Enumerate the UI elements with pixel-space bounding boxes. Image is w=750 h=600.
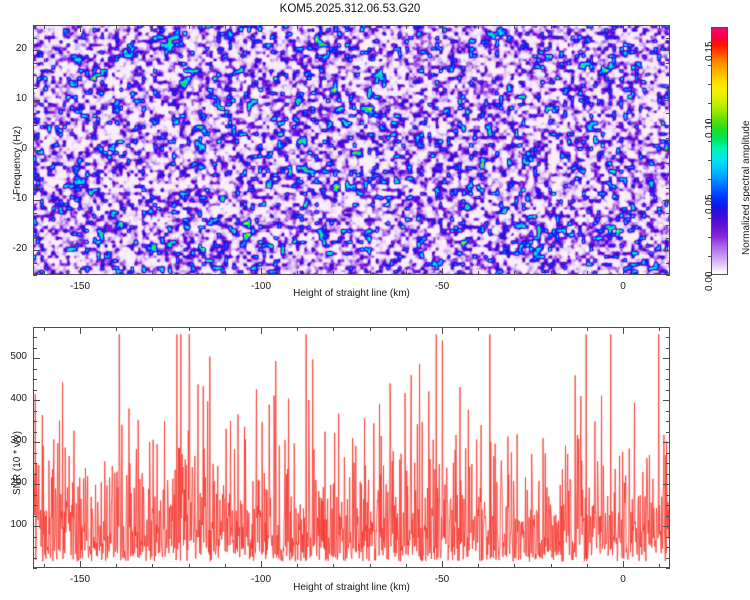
axis-tick — [33, 390, 37, 391]
axis-tick — [44, 271, 45, 275]
spectrogram-image — [34, 26, 670, 275]
axis-tick — [659, 564, 660, 568]
axis-tick — [478, 564, 479, 568]
axis-tick — [442, 25, 443, 32]
axis-tick — [406, 564, 407, 568]
axis-tick — [297, 327, 298, 331]
axis-tick — [33, 484, 40, 485]
axis-tick — [666, 495, 670, 496]
colorbar-minor-tick — [708, 256, 711, 257]
y-tick-label: 500 — [0, 351, 27, 362]
axis-tick — [659, 25, 660, 29]
axis-tick — [663, 526, 670, 527]
axis-tick — [333, 564, 334, 568]
axis-tick — [663, 250, 670, 251]
axis-tick — [666, 505, 670, 506]
axis-tick — [663, 150, 670, 151]
axis-tick — [666, 369, 670, 370]
axis-tick — [663, 100, 670, 101]
axis-tick — [152, 327, 153, 331]
axis-tick — [33, 379, 37, 380]
snr-x-axis-label: Height of straight line (km) — [0, 582, 703, 593]
axis-tick — [587, 564, 588, 568]
axis-tick — [33, 463, 37, 464]
axis-tick — [666, 348, 670, 349]
axis-tick — [189, 271, 190, 275]
colorbar-tick-label: 0.00 — [704, 272, 715, 291]
axis-tick — [442, 561, 443, 568]
axis-tick — [33, 275, 37, 276]
axis-tick — [666, 213, 670, 214]
axis-tick — [551, 327, 552, 331]
axis-tick — [80, 561, 81, 568]
axis-tick — [666, 432, 670, 433]
colorbar-minor-tick — [708, 160, 711, 161]
axis-tick — [297, 564, 298, 568]
axis-tick — [666, 327, 670, 328]
axis-tick — [225, 327, 226, 331]
axis-tick — [33, 547, 37, 548]
axis-tick — [370, 327, 371, 331]
axis-tick — [666, 453, 670, 454]
axis-tick — [33, 516, 37, 517]
axis-tick — [189, 564, 190, 568]
spectrogram-y-axis-label: Frequency (Hz) — [12, 126, 23, 195]
y-tick-label: 100 — [0, 519, 27, 530]
colorbar-tick-label: 0.15 — [704, 42, 715, 61]
colorbar-minor-tick — [708, 84, 711, 85]
axis-tick — [33, 526, 40, 527]
axis-tick — [478, 25, 479, 29]
axis-tick — [551, 25, 552, 29]
axis-tick — [116, 327, 117, 331]
axis-tick — [551, 271, 552, 275]
colorbar-minor-tick — [708, 237, 711, 238]
snr-panel — [33, 327, 670, 568]
axis-tick — [666, 537, 670, 538]
axis-tick — [478, 327, 479, 331]
axis-tick — [33, 400, 40, 401]
axis-tick — [666, 379, 670, 380]
colorbar-minor-tick — [708, 141, 711, 142]
spectrogram-x-axis-label: Height of straight line (km) — [0, 288, 703, 299]
axis-tick — [666, 188, 670, 189]
axis-tick — [666, 275, 670, 276]
axis-tick — [666, 474, 670, 475]
axis-tick — [116, 564, 117, 568]
axis-tick — [666, 125, 670, 126]
axis-tick — [225, 564, 226, 568]
axis-tick — [261, 561, 262, 568]
axis-tick — [33, 558, 37, 559]
axis-tick — [333, 25, 334, 29]
axis-tick — [666, 163, 670, 164]
axis-tick — [33, 238, 37, 239]
axis-tick — [666, 390, 670, 391]
axis-tick — [666, 463, 670, 464]
axis-tick — [666, 547, 670, 548]
axis-tick — [44, 25, 45, 29]
axis-tick — [261, 327, 262, 334]
axis-tick — [666, 38, 670, 39]
snr-y-axis-label: SNR (10 * v/v) — [12, 431, 23, 495]
axis-tick — [406, 271, 407, 275]
axis-tick — [33, 358, 40, 359]
axis-tick — [33, 568, 37, 569]
axis-tick — [261, 25, 262, 32]
axis-tick — [666, 263, 670, 264]
axis-tick — [33, 100, 40, 101]
colorbar-minor-tick — [708, 218, 711, 219]
axis-tick — [406, 327, 407, 331]
axis-tick — [33, 432, 37, 433]
colorbar-minor-tick — [708, 179, 711, 180]
axis-tick — [33, 442, 40, 443]
axis-tick — [663, 400, 670, 401]
y-tick-label: -20 — [0, 243, 27, 254]
axis-tick — [33, 453, 37, 454]
axis-tick — [44, 564, 45, 568]
axis-tick — [370, 25, 371, 29]
figure-title: KOM5.2025.312.06.53.G20 — [0, 3, 700, 15]
figure-root: KOM5.2025.312.06.53.G20 -150-100-500-20-… — [0, 0, 750, 600]
axis-tick — [514, 327, 515, 331]
axis-tick — [33, 505, 37, 506]
axis-tick — [152, 564, 153, 568]
snr-trace — [34, 328, 670, 568]
axis-tick — [297, 25, 298, 29]
axis-tick — [666, 516, 670, 517]
axis-tick — [587, 327, 588, 331]
axis-tick — [225, 25, 226, 29]
axis-tick — [80, 268, 81, 275]
axis-tick — [666, 75, 670, 76]
axis-tick — [33, 225, 37, 226]
y-tick-label: 400 — [0, 393, 27, 404]
axis-tick — [33, 474, 37, 475]
axis-tick — [663, 200, 670, 201]
colorbar-tick-label: 0.05 — [704, 195, 715, 214]
colorbar-label: Normalized spectral amplitude — [741, 120, 750, 255]
colorbar-minor-tick — [708, 103, 711, 104]
colorbar-tick-label: 0.10 — [704, 119, 715, 138]
axis-tick — [33, 250, 40, 251]
axis-tick — [33, 337, 37, 338]
axis-tick — [33, 188, 37, 189]
axis-tick — [659, 271, 660, 275]
axis-tick — [33, 63, 37, 64]
axis-tick — [666, 113, 670, 114]
axis-tick — [33, 88, 37, 89]
axis-tick — [442, 327, 443, 334]
axis-tick — [297, 271, 298, 275]
axis-tick — [189, 327, 190, 331]
axis-tick — [333, 271, 334, 275]
axis-tick — [666, 568, 670, 569]
axis-tick — [623, 561, 624, 568]
axis-tick — [666, 25, 670, 26]
axis-tick — [666, 421, 670, 422]
axis-tick — [116, 271, 117, 275]
axis-tick — [33, 213, 37, 214]
axis-tick — [152, 271, 153, 275]
axis-tick — [33, 38, 37, 39]
axis-tick — [80, 327, 81, 334]
axis-tick — [33, 327, 37, 328]
axis-tick — [33, 175, 37, 176]
axis-tick — [666, 337, 670, 338]
axis-tick — [666, 411, 670, 412]
y-tick-label: 10 — [0, 93, 27, 104]
axis-tick — [623, 327, 624, 334]
axis-tick — [666, 175, 670, 176]
axis-tick — [33, 125, 37, 126]
colorbar-minor-tick — [708, 65, 711, 66]
axis-tick — [663, 50, 670, 51]
axis-tick — [666, 88, 670, 89]
axis-tick — [33, 369, 37, 370]
axis-tick — [666, 238, 670, 239]
axis-tick — [587, 271, 588, 275]
axis-tick — [587, 25, 588, 29]
axis-tick — [152, 25, 153, 29]
axis-tick — [33, 411, 37, 412]
axis-tick — [666, 558, 670, 559]
axis-tick — [478, 271, 479, 275]
axis-tick — [33, 163, 37, 164]
axis-tick — [659, 327, 660, 331]
colorbar — [711, 27, 728, 275]
axis-tick — [370, 564, 371, 568]
axis-tick — [116, 25, 117, 29]
axis-tick — [225, 271, 226, 275]
axis-tick — [514, 271, 515, 275]
axis-tick — [33, 150, 40, 151]
axis-tick — [80, 25, 81, 32]
axis-tick — [33, 537, 37, 538]
axis-tick — [514, 25, 515, 29]
y-tick-label: 20 — [0, 43, 27, 54]
axis-tick — [514, 564, 515, 568]
axis-tick — [370, 271, 371, 275]
axis-tick — [44, 327, 45, 331]
axis-tick — [551, 564, 552, 568]
axis-tick — [33, 75, 37, 76]
axis-tick — [33, 113, 37, 114]
axis-tick — [666, 225, 670, 226]
axis-tick — [33, 25, 37, 26]
axis-tick — [623, 25, 624, 32]
axis-tick — [33, 50, 40, 51]
axis-tick — [189, 25, 190, 29]
axis-tick — [33, 263, 37, 264]
axis-tick — [663, 358, 670, 359]
axis-tick — [33, 495, 37, 496]
axis-tick — [33, 200, 40, 201]
axis-tick — [666, 138, 670, 139]
axis-tick — [333, 327, 334, 331]
axis-tick — [33, 421, 37, 422]
axis-tick — [666, 63, 670, 64]
axis-tick — [663, 484, 670, 485]
axis-tick — [663, 442, 670, 443]
axis-tick — [623, 268, 624, 275]
axis-tick — [406, 25, 407, 29]
axis-tick — [33, 348, 37, 349]
axis-tick — [442, 268, 443, 275]
spectrogram-panel — [33, 25, 670, 275]
axis-tick — [33, 138, 37, 139]
axis-tick — [261, 268, 262, 275]
